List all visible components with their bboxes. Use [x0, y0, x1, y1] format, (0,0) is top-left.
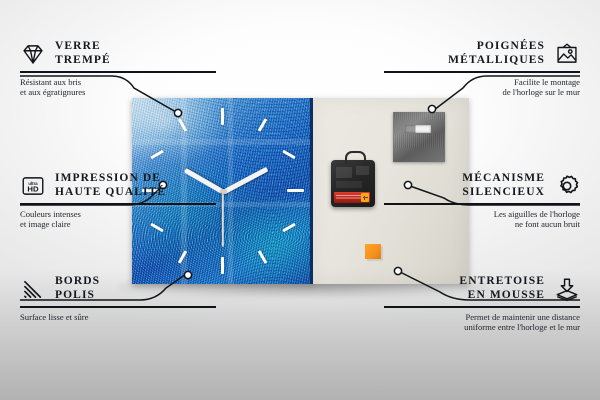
- movement-detail: [356, 166, 369, 175]
- aa-battery: [334, 192, 370, 203]
- callout-title: ENTRETOISE EN MOUSSE: [459, 275, 545, 302]
- callout-description: Les aiguilles de l'horloge ne font aucun…: [384, 209, 580, 230]
- foam-spacer: [365, 244, 381, 259]
- infographic-canvas: VERRE TREMPÉ Résistant aux bris et aux é…: [0, 0, 600, 400]
- callout-entretoise-en-mousse: ENTRETOISE EN MOUSSE Permet de maintenir…: [384, 275, 580, 332]
- ultra-hd-icon: ultra HD: [20, 173, 46, 199]
- callout-header: ultra HD IMPRESSION DE HAUTE QUALITÉ: [20, 172, 216, 199]
- picture-frame-hanger-icon: [554, 41, 580, 67]
- callout-poignees-metalliques: POIGNÉES MÉTALLIQUES Facilite le montage…: [384, 40, 580, 97]
- callout-rule: [20, 71, 216, 73]
- callout-rule: [20, 203, 216, 205]
- callout-header: ENTRETOISE EN MOUSSE: [384, 275, 580, 302]
- callout-mecanisme-silencieux: MÉCANISME SILENCIEUX Les aiguilles de l'…: [384, 172, 580, 229]
- polished-edge-icon: [20, 276, 46, 302]
- hands-pin: [221, 189, 226, 194]
- svg-text:HD: HD: [27, 184, 39, 193]
- hour-tick: [287, 189, 304, 192]
- callout-description: Couleurs intenses et image claire: [20, 209, 216, 230]
- callout-verre-trempe: VERRE TREMPÉ Résistant aux bris et aux é…: [20, 40, 216, 97]
- callout-title: BORDS POLIS: [55, 275, 100, 302]
- callout-rule: [384, 203, 580, 205]
- callout-rule: [20, 306, 216, 308]
- callout-header: MÉCANISME SILENCIEUX: [384, 172, 580, 199]
- hour-tick: [221, 108, 224, 125]
- callout-title: VERRE TREMPÉ: [55, 40, 111, 67]
- callout-impression-haute-qualite: ultra HD IMPRESSION DE HAUTE QUALITÉ Cou…: [20, 172, 216, 229]
- battery-label: [336, 195, 362, 200]
- hanger-slot: [405, 125, 431, 133]
- second-hand: [222, 192, 224, 247]
- callout-rule: [384, 306, 580, 308]
- movement-detail: [336, 181, 362, 188]
- down-arrow-layers-icon: [554, 276, 580, 302]
- callout-rule: [384, 71, 580, 73]
- callout-description: Surface lisse et sûre: [20, 312, 216, 322]
- callout-title: POIGNÉES MÉTALLIQUES: [448, 40, 545, 67]
- gear-icon: [554, 173, 580, 199]
- metal-hanger-plate: [393, 112, 445, 162]
- hour-tick: [221, 257, 224, 274]
- callout-description: Permet de maintenir une distance uniform…: [384, 312, 580, 333]
- callout-description: Facilite le montage de l'horloge sur le …: [384, 77, 580, 98]
- movement-detail: [336, 167, 352, 178]
- callout-bords-polis: BORDS POLIS Surface lisse et sûre: [20, 275, 216, 322]
- quartz-movement: [331, 160, 375, 207]
- diamond-icon: [20, 41, 46, 67]
- callout-header: VERRE TREMPÉ: [20, 40, 216, 67]
- callout-description: Résistant aux bris et aux égratignures: [20, 77, 216, 98]
- callout-title: IMPRESSION DE HAUTE QUALITÉ: [55, 172, 166, 199]
- movement-hook: [345, 151, 366, 164]
- callout-header: BORDS POLIS: [20, 275, 216, 302]
- battery-plus-terminal: [361, 193, 369, 202]
- callout-title: MÉCANISME SILENCIEUX: [462, 172, 545, 199]
- callout-header: POIGNÉES MÉTALLIQUES: [384, 40, 580, 67]
